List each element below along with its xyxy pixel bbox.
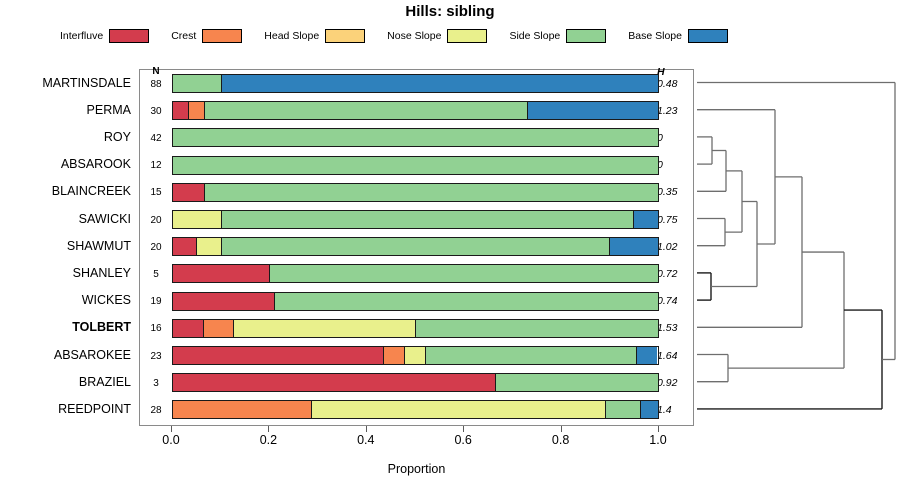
legend-swatch [202,29,242,43]
legend-entry[interactable]: Base Slope [628,29,728,43]
h-value: 1.23 [657,105,691,117]
bar-segment[interactable] [173,401,312,418]
stacked-bar[interactable] [172,237,659,256]
h-value: 0 [657,159,691,171]
x-axis-tick-mark [561,426,562,432]
bar-segment[interactable] [384,347,405,364]
h-value: 0.48 [657,78,691,90]
bar-segment[interactable] [173,157,658,174]
x-axis-tick-mark [463,426,464,432]
n-value: 16 [142,323,170,334]
y-axis-label: PERMA [0,104,131,116]
h-value: 1.64 [657,350,691,362]
stacked-bar[interactable] [172,128,659,147]
stacked-bar-panel: NH880.48301.23420120150.35200.75201.0250… [139,69,694,426]
bar-segment[interactable] [234,320,416,337]
x-axis-tick-label: 0.6 [443,433,483,447]
bar-segment[interactable] [205,102,528,119]
y-axis-label: SHAWMUT [0,240,131,252]
stacked-bar[interactable] [172,346,659,365]
stacked-bar[interactable] [172,183,659,202]
h-value: 1.53 [657,322,691,334]
y-axis-labels: MARTINSDALEPERMAROYABSAROOKBLAINCREEKSAW… [0,70,137,426]
legend-label: Side Slope [509,30,560,42]
chart-page: Hills: sibling InterfluveCrestHead Slope… [0,0,900,500]
x-axis-tick-label: 0.8 [541,433,581,447]
y-axis-label: ROY [0,131,131,143]
stacked-bar[interactable] [172,400,659,419]
stacked-bar[interactable] [172,156,659,175]
bar-segment[interactable] [173,75,222,92]
bar-segment[interactable] [270,265,658,282]
stacked-bar[interactable] [172,264,659,283]
bar-segment[interactable] [173,347,384,364]
stacked-bar[interactable] [172,74,659,93]
n-value: 28 [142,405,170,416]
bar-segment[interactable] [173,238,197,255]
dendrogram-svg [697,62,897,430]
h-column-header: H [657,66,691,78]
legend-label: Interfluve [60,30,103,42]
legend-swatch [447,29,487,43]
n-value: 42 [142,133,170,144]
x-axis-title: Proportion [139,462,694,476]
bar-segment[interactable] [637,347,658,364]
bar-segment[interactable] [641,401,658,418]
h-value: 0 [657,132,691,144]
bar-segment[interactable] [275,293,658,310]
bar-segment[interactable] [606,401,640,418]
x-axis-tick-mark [658,426,659,432]
bar-segment[interactable] [173,211,222,228]
bar-segment[interactable] [634,211,658,228]
bar-segment[interactable] [222,238,610,255]
bar-segment[interactable] [312,401,606,418]
legend: InterfluveCrestHead SlopeNose SlopeSide … [60,26,760,46]
n-value: 15 [142,187,170,198]
bar-segment[interactable] [173,184,205,201]
stacked-bar[interactable] [172,373,659,392]
stacked-bar[interactable] [172,319,659,338]
bar-segment[interactable] [610,238,659,255]
x-axis-tick-mark [268,426,269,432]
legend-swatch [109,29,149,43]
n-value: 19 [142,296,170,307]
stacked-bar[interactable] [172,292,659,311]
page-title: Hills: sibling [0,3,900,20]
h-value: 0.35 [657,186,691,198]
legend-label: Base Slope [628,30,682,42]
bar-segment[interactable] [173,129,658,146]
n-value: 30 [142,106,170,117]
h-value: 0.92 [657,377,691,389]
bar-segment[interactable] [222,211,634,228]
legend-entry[interactable]: Crest [171,29,242,43]
bar-segment[interactable] [222,75,658,92]
n-value: 20 [142,242,170,253]
stacked-bar[interactable] [172,101,659,120]
legend-label: Crest [171,30,196,42]
bar-segment[interactable] [204,320,235,337]
n-value: 3 [142,378,170,389]
x-axis-tick-label: 1.0 [638,433,678,447]
stacked-bar[interactable] [172,210,659,229]
x-axis-tick-label: 0.4 [346,433,386,447]
h-value: 1.4 [657,404,691,416]
h-value: 0.75 [657,214,691,226]
y-axis-label: BLAINCREEK [0,185,131,197]
n-value: 20 [142,215,170,226]
legend-swatch [688,29,728,43]
y-axis-label: BRAZIEL [0,376,131,388]
x-axis-tick-label: 0.0 [151,433,191,447]
legend-entry[interactable]: Head Slope [264,29,365,43]
legend-entry[interactable]: Side Slope [509,29,606,43]
bar-segment[interactable] [426,347,637,364]
y-axis-label: MARTINSDALE [0,77,131,89]
legend-entry[interactable]: Nose Slope [387,29,487,43]
n-value: 23 [142,351,170,362]
n-column-header: N [142,66,170,77]
bar-segment[interactable] [173,374,496,391]
legend-label: Nose Slope [387,30,441,42]
x-axis-tick-mark [366,426,367,432]
y-axis-label: REEDPOINT [0,403,131,415]
h-value: 0.72 [657,268,691,280]
y-axis-label: TOLBERT [0,321,131,333]
h-value: 0.74 [657,295,691,307]
n-value: 12 [142,160,170,171]
x-axis-tick-label: 0.2 [248,433,288,447]
n-value: 5 [142,269,170,280]
dendrogram [697,62,897,430]
bar-segment[interactable] [189,102,205,119]
bar-segment[interactable] [173,265,270,282]
y-axis-label: WICKES [0,294,131,306]
bar-segment[interactable] [416,320,659,337]
bar-segment[interactable] [205,184,658,201]
bar-segment[interactable] [197,238,221,255]
legend-label: Head Slope [264,30,319,42]
h-value: 1.02 [657,241,691,253]
legend-entry[interactable]: Interfluve [60,29,149,43]
y-axis-label: ABSAROKEE [0,349,131,361]
y-axis-label: SAWICKI [0,213,131,225]
x-axis: 0.00.20.40.60.81.0 [139,426,694,446]
bar-segment[interactable] [496,374,658,391]
y-axis-label: SHANLEY [0,267,131,279]
n-value: 88 [142,79,170,90]
bar-segment[interactable] [528,102,657,119]
legend-swatch [566,29,606,43]
bar-segment[interactable] [173,102,189,119]
bar-segment[interactable] [405,347,426,364]
bar-segment[interactable] [173,320,204,337]
legend-swatch [325,29,365,43]
x-axis-tick-mark [171,426,172,432]
bar-segment[interactable] [173,293,275,310]
y-axis-label: ABSAROOK [0,158,131,170]
